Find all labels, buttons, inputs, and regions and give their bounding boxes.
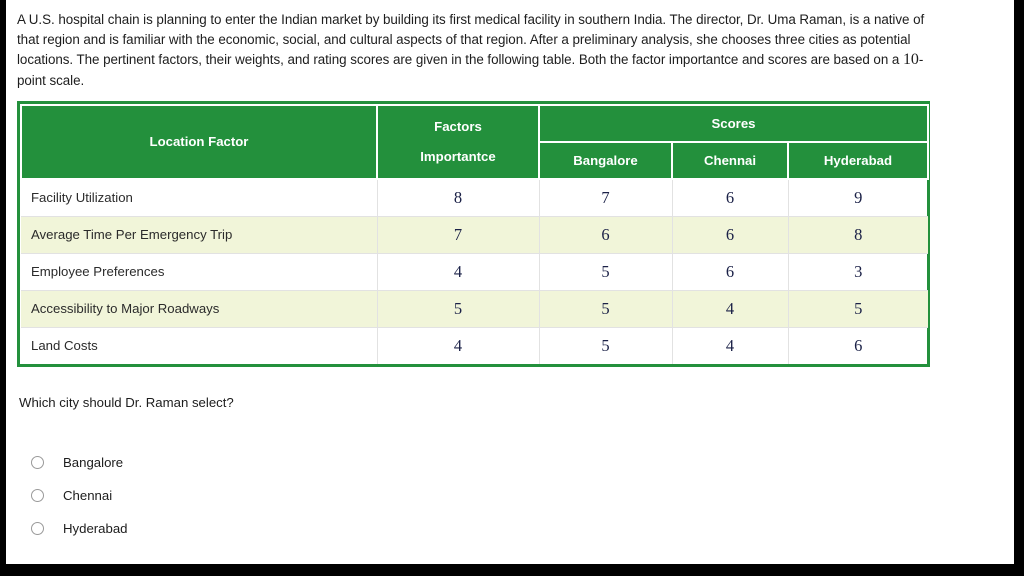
header-city-hyderabad: Hyderabad xyxy=(788,142,928,179)
cell-importance: 5 xyxy=(377,290,539,327)
option-chennai[interactable]: Chennai xyxy=(31,479,997,512)
cell-importance: 8 xyxy=(377,179,539,217)
cell-score-hyderabad: 6 xyxy=(788,327,928,364)
radio-button-icon[interactable] xyxy=(31,456,44,469)
cell-factor-name: Employee Preferences xyxy=(21,253,377,290)
header-factors-line2: Importantce xyxy=(382,142,534,172)
table-row: Land Costs 4 5 4 6 xyxy=(21,327,928,364)
scale-number: 10 xyxy=(903,51,919,68)
cell-score-hyderabad: 9 xyxy=(788,179,928,217)
cell-score-chennai: 6 xyxy=(672,179,788,217)
header-location-factor: Location Factor xyxy=(21,105,377,179)
location-factor-table-container: Location Factor Factors Importantce Scor… xyxy=(17,101,930,367)
cell-score-bangalore: 5 xyxy=(539,290,672,327)
radio-button-icon[interactable] xyxy=(31,489,44,502)
cell-factor-name: Land Costs xyxy=(21,327,377,364)
cell-score-hyderabad: 5 xyxy=(788,290,928,327)
cell-importance: 4 xyxy=(377,327,539,364)
option-label[interactable]: Hyderabad xyxy=(63,521,128,536)
header-factors-line1: Factors xyxy=(382,112,534,142)
stem-text-part1: A U.S. hospital chain is planning to ent… xyxy=(17,12,924,67)
header-city-bangalore: Bangalore xyxy=(539,142,672,179)
cell-score-hyderabad: 8 xyxy=(788,216,928,253)
answer-options-group: Bangalore Chennai Hyderabad xyxy=(31,446,997,545)
cell-factor-name: Accessibility to Major Roadways xyxy=(21,290,377,327)
table-row: Accessibility to Major Roadways 5 5 4 5 xyxy=(21,290,928,327)
cell-score-chennai: 4 xyxy=(672,327,788,364)
cell-importance: 4 xyxy=(377,253,539,290)
cell-importance: 7 xyxy=(377,216,539,253)
page-frame: A U.S. hospital chain is planning to ent… xyxy=(6,0,1017,569)
radio-button-icon[interactable] xyxy=(31,522,44,535)
option-bangalore[interactable]: Bangalore xyxy=(31,446,997,479)
cell-score-bangalore: 5 xyxy=(539,327,672,364)
cell-factor-name: Facility Utilization xyxy=(21,179,377,217)
cell-score-chennai: 4 xyxy=(672,290,788,327)
cell-score-chennai: 6 xyxy=(672,253,788,290)
page-content: A U.S. hospital chain is planning to ent… xyxy=(17,10,997,545)
header-city-chennai: Chennai xyxy=(672,142,788,179)
table-row: Employee Preferences 4 5 6 3 xyxy=(21,253,928,290)
header-scores: Scores xyxy=(539,105,928,142)
option-hyderabad[interactable]: Hyderabad xyxy=(31,512,997,545)
table-row: Facility Utilization 8 7 6 9 xyxy=(21,179,928,217)
cell-score-chennai: 6 xyxy=(672,216,788,253)
cell-factor-name: Average Time Per Emergency Trip xyxy=(21,216,377,253)
option-label[interactable]: Bangalore xyxy=(63,455,123,470)
header-factors-importance: Factors Importantce xyxy=(377,105,539,179)
table-row: Average Time Per Emergency Trip 7 6 6 8 xyxy=(21,216,928,253)
question-stem-paragraph: A U.S. hospital chain is planning to ent… xyxy=(17,10,934,91)
cell-score-bangalore: 5 xyxy=(539,253,672,290)
location-factor-table: Location Factor Factors Importantce Scor… xyxy=(20,104,929,364)
table-header-row-1: Location Factor Factors Importantce Scor… xyxy=(21,105,928,142)
cell-score-bangalore: 7 xyxy=(539,179,672,217)
question-prompt: Which city should Dr. Raman select? xyxy=(19,395,997,410)
cell-score-hyderabad: 3 xyxy=(788,253,928,290)
option-label[interactable]: Chennai xyxy=(63,488,112,503)
cell-score-bangalore: 6 xyxy=(539,216,672,253)
